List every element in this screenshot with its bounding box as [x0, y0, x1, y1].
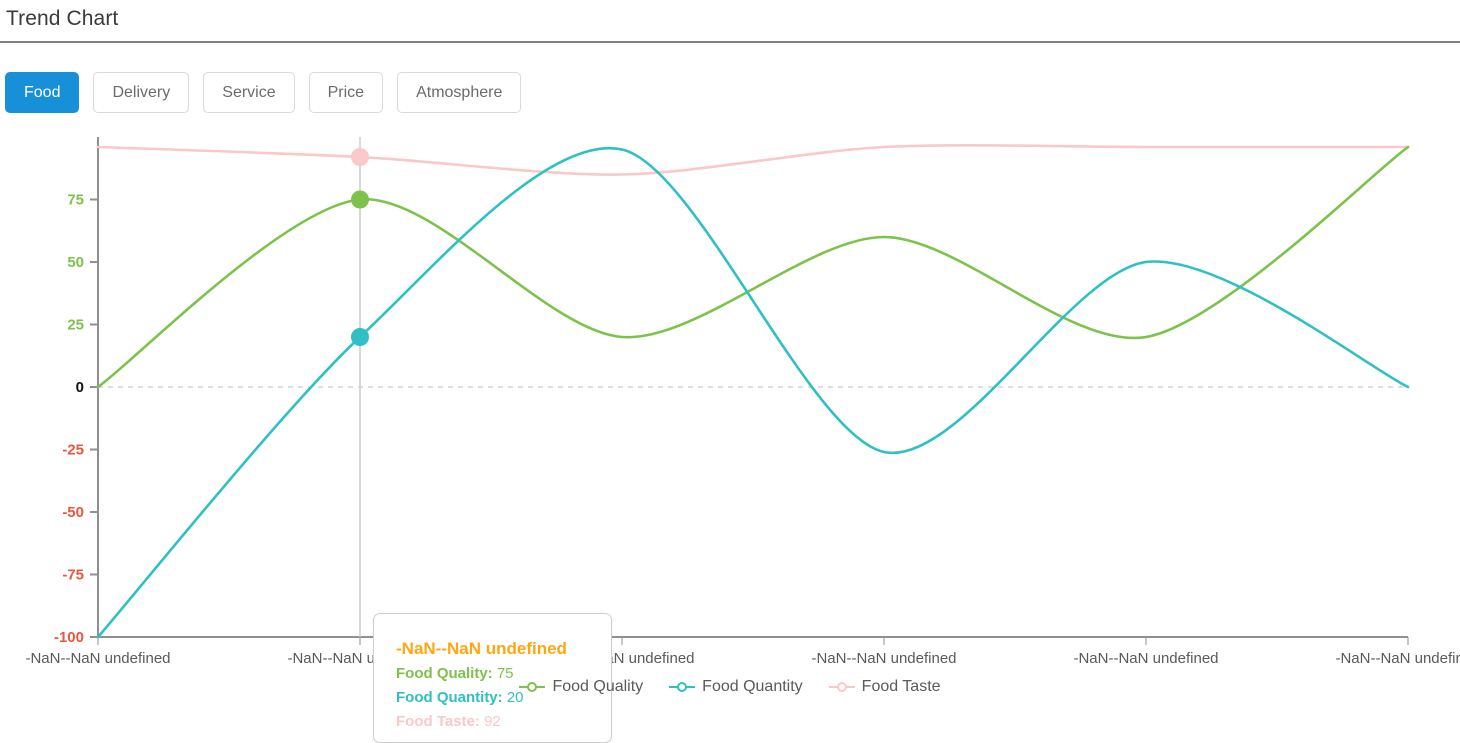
chart-legend: Food Quality Food Quantity Food Taste — [0, 678, 1460, 696]
svg-text:-NaN--NaN undefined: -NaN--NaN undefined — [1073, 650, 1218, 667]
category-button-price[interactable]: Price — [309, 72, 383, 113]
title-divider — [0, 41, 1460, 43]
category-button-label: Delivery — [112, 84, 170, 102]
legend-marker-icon — [519, 680, 545, 694]
legend-label: Food Taste — [862, 678, 941, 696]
svg-text:-NaN--NaN undefined: -NaN--NaN undefined — [25, 650, 170, 667]
tooltip-row-key: Food Taste: — [396, 713, 480, 730]
svg-text:25: 25 — [67, 317, 84, 334]
category-button-atmosphere[interactable]: Atmosphere — [397, 72, 521, 113]
tooltip-row: Food Taste: 92 — [396, 710, 611, 734]
category-button-label: Service — [222, 84, 275, 102]
series-lines — [98, 145, 1408, 637]
x-axis-tick-labels: -NaN--NaN undefined-NaN--NaN undefined-N… — [25, 650, 1460, 667]
svg-text:-50: -50 — [62, 504, 84, 521]
trend-chart[interactable]: 7550250-25-50-75-100 -NaN--NaN undefined… — [0, 126, 1460, 718]
legend-label: Food Quantity — [702, 678, 803, 696]
legend-label: Food Quality — [552, 678, 643, 696]
legend-marker-icon — [829, 680, 855, 694]
legend-item-food-quantity[interactable]: Food Quantity — [669, 678, 803, 696]
svg-text:-25: -25 — [62, 442, 84, 459]
category-button-label: Price — [328, 84, 364, 102]
svg-text:0: 0 — [76, 379, 84, 396]
page-title: Trend Chart — [6, 4, 118, 34]
svg-text:-NaN--NaN undefined: -NaN--NaN undefined — [811, 650, 956, 667]
tooltip-title: -NaN--NaN undefined — [396, 636, 611, 662]
svg-text:50: 50 — [67, 254, 84, 271]
category-button-food[interactable]: Food — [5, 72, 79, 113]
svg-text:-75: -75 — [62, 567, 84, 584]
tooltip-row-value: 92 — [484, 713, 501, 730]
legend-item-food-taste[interactable]: Food Taste — [829, 678, 941, 696]
category-button-label: Atmosphere — [416, 84, 502, 102]
svg-text:-100: -100 — [54, 629, 84, 646]
legend-item-food-quality[interactable]: Food Quality — [519, 678, 643, 696]
category-button-delivery[interactable]: Delivery — [93, 72, 189, 113]
category-button-service[interactable]: Service — [203, 72, 294, 113]
legend-marker-icon — [669, 680, 695, 694]
category-button-bar: Food Delivery Service Price Atmosphere — [5, 72, 521, 113]
svg-text:-NaN--NaN undefined: -NaN--NaN undefined — [1335, 650, 1460, 667]
svg-text:75: 75 — [67, 192, 84, 209]
chart-axes — [90, 137, 1408, 645]
y-axis-tick-labels: 7550250-25-50-75-100 — [54, 192, 84, 647]
chart-canvas: 7550250-25-50-75-100 -NaN--NaN undefined… — [0, 126, 1460, 718]
category-button-label: Food — [24, 84, 60, 102]
